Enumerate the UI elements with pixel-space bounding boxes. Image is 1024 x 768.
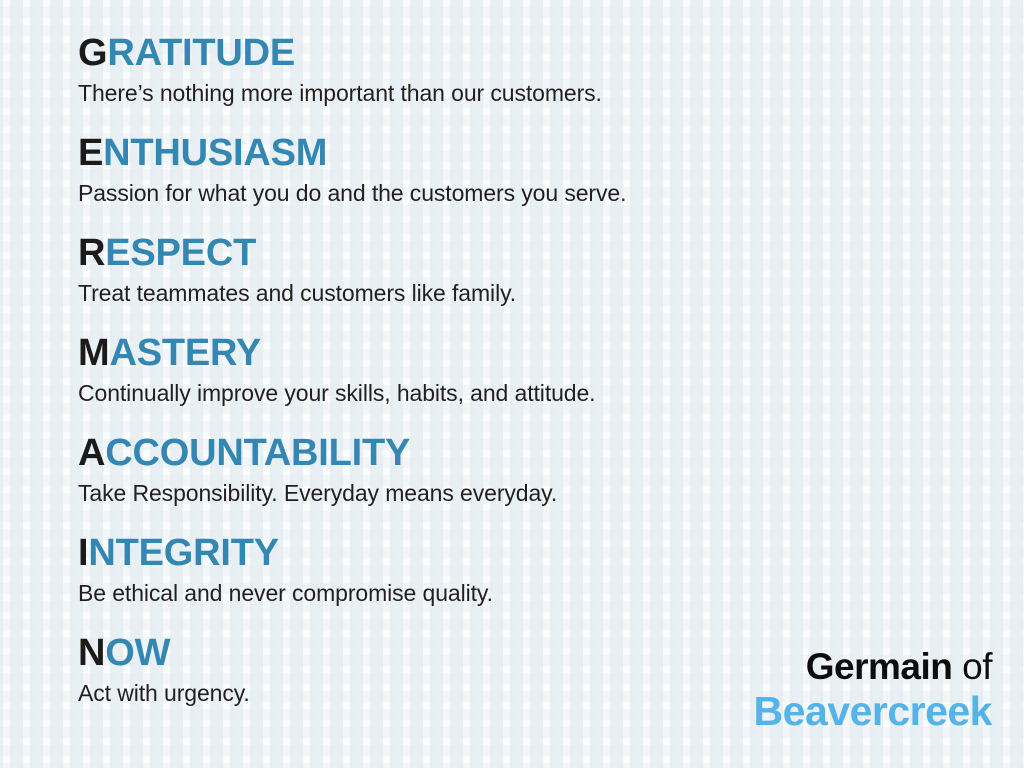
- value-title-enthusiasm: ENTHUSIASM: [78, 131, 1024, 175]
- logo-brand-name: Germain: [806, 646, 953, 687]
- value-description-respect: Treat teammates and customers like famil…: [78, 278, 1024, 308]
- logo-line-primary: Germain of: [754, 646, 992, 688]
- value-description-gratitude: There’s nothing more important than our …: [78, 78, 1024, 108]
- value-lead-letter-gratitude: G: [78, 32, 107, 74]
- value-block-enthusiasm: ENTHUSIASM Passion for what you do and t…: [78, 131, 1024, 231]
- value-block-gratitude: GRATITUDE There’s nothing more important…: [78, 31, 1024, 131]
- value-description-mastery: Continually improve your skills, habits,…: [78, 378, 1024, 408]
- value-title-integrity: INTEGRITY: [78, 531, 1024, 575]
- value-title-rest-enthusiasm: NTHUSIASM: [103, 132, 327, 174]
- value-title-gratitude: GRATITUDE: [78, 31, 1024, 75]
- value-lead-letter-respect: R: [78, 232, 105, 274]
- value-lead-letter-accountability: A: [78, 432, 105, 474]
- value-description-accountability: Take Responsibility. Everyday means ever…: [78, 478, 1024, 508]
- value-block-respect: RESPECT Treat teammates and customers li…: [78, 231, 1024, 331]
- value-title-rest-gratitude: RATITUDE: [107, 32, 295, 74]
- value-lead-letter-now: N: [78, 632, 105, 674]
- value-description-enthusiasm: Passion for what you do and the customer…: [78, 178, 1024, 208]
- value-title-rest-respect: ESPECT: [105, 232, 256, 274]
- value-lead-letter-mastery: M: [78, 332, 109, 374]
- value-lead-letter-integrity: I: [78, 532, 88, 574]
- value-title-mastery: MASTERY: [78, 331, 1024, 375]
- value-title-respect: RESPECT: [78, 231, 1024, 275]
- value-title-rest-mastery: ASTERY: [109, 332, 261, 374]
- logo-location-name: Beavercreek: [754, 688, 992, 734]
- value-title-rest-accountability: CCOUNTABILITY: [105, 432, 410, 474]
- value-block-integrity: INTEGRITY Be ethical and never compromis…: [78, 531, 1024, 631]
- value-block-mastery: MASTERY Continually improve your skills,…: [78, 331, 1024, 431]
- dealership-logo: Germain of Beavercreek: [754, 646, 992, 734]
- value-title-rest-now: OW: [105, 632, 170, 674]
- value-lead-letter-enthusiasm: E: [78, 132, 103, 174]
- value-title-rest-integrity: NTEGRITY: [88, 532, 279, 574]
- value-description-integrity: Be ethical and never compromise quality.: [78, 578, 1024, 608]
- value-title-accountability: ACCOUNTABILITY: [78, 431, 1024, 475]
- value-block-accountability: ACCOUNTABILITY Take Responsibility. Ever…: [78, 431, 1024, 531]
- logo-connector-word: of: [962, 646, 992, 687]
